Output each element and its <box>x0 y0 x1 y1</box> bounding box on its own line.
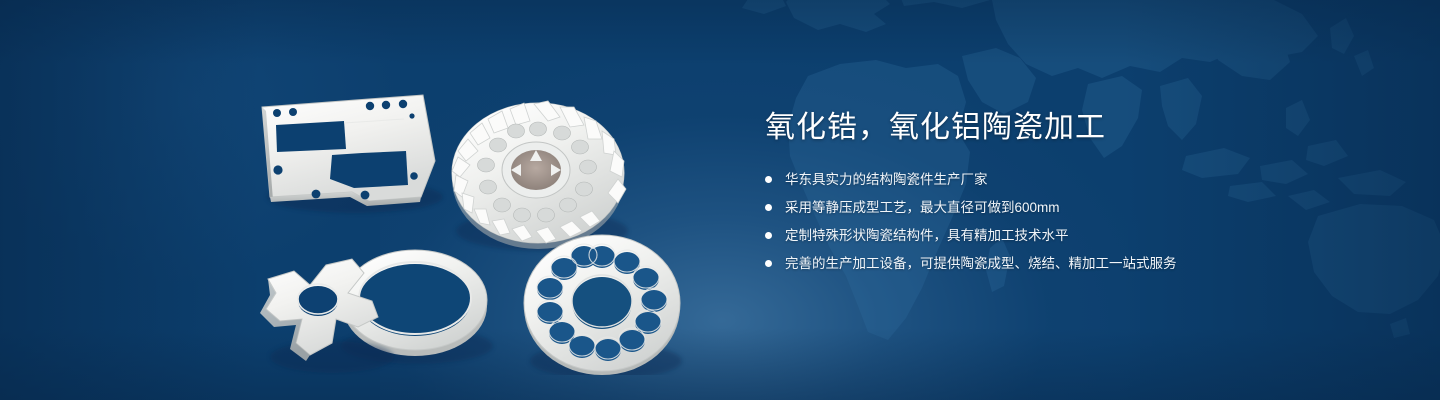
bullet-item-3-text: 定制特殊形状陶瓷结构件，具有精加工技术水平 <box>785 226 1069 245</box>
ceramic-products-group <box>240 45 710 375</box>
bullet-marker-icon <box>765 176 772 183</box>
bullet-item-2-text: 采用等静压成型工艺，最大直径可做到600mm <box>785 198 1060 217</box>
bullet-item-2: 采用等静压成型工艺，最大直径可做到600mm <box>765 198 1385 217</box>
ceramic-perforated-disc <box>524 235 682 375</box>
bullet-item-1: 华东具实力的结构陶瓷件生产厂家 <box>765 170 1385 189</box>
bullet-item-4: 完善的生产加工设备，可提供陶瓷成型、烧结、精加工一站式服务 <box>765 254 1385 273</box>
bullet-marker-icon <box>765 204 772 211</box>
bullet-item-3: 定制特殊形状陶瓷结构件，具有精加工技术水平 <box>765 226 1385 245</box>
bullet-marker-icon <box>765 260 772 267</box>
ceramic-processing-banner: 氧化锆，氧化铝陶瓷加工 华东具实力的结构陶瓷件生产厂家 采用等静压成型工艺，最大… <box>0 0 1440 400</box>
bullet-item-4-text: 完善的生产加工设备，可提供陶瓷成型、烧结、精加工一站式服务 <box>785 254 1177 273</box>
banner-copy: 氧化锆，氧化铝陶瓷加工 华东具实力的结构陶瓷件生产厂家 采用等静压成型工艺，最大… <box>765 108 1385 282</box>
bullet-marker-icon <box>765 232 772 239</box>
banner-headline: 氧化锆，氧化铝陶瓷加工 <box>765 108 1385 148</box>
banner-bullet-list: 华东具实力的结构陶瓷件生产厂家 采用等静压成型工艺，最大直径可做到600mm 定… <box>765 170 1385 273</box>
bullet-item-1-text: 华东具实力的结构陶瓷件生产厂家 <box>785 170 988 189</box>
ceramic-vaned-impeller <box>452 101 628 251</box>
ceramic-machined-plate <box>262 95 443 213</box>
